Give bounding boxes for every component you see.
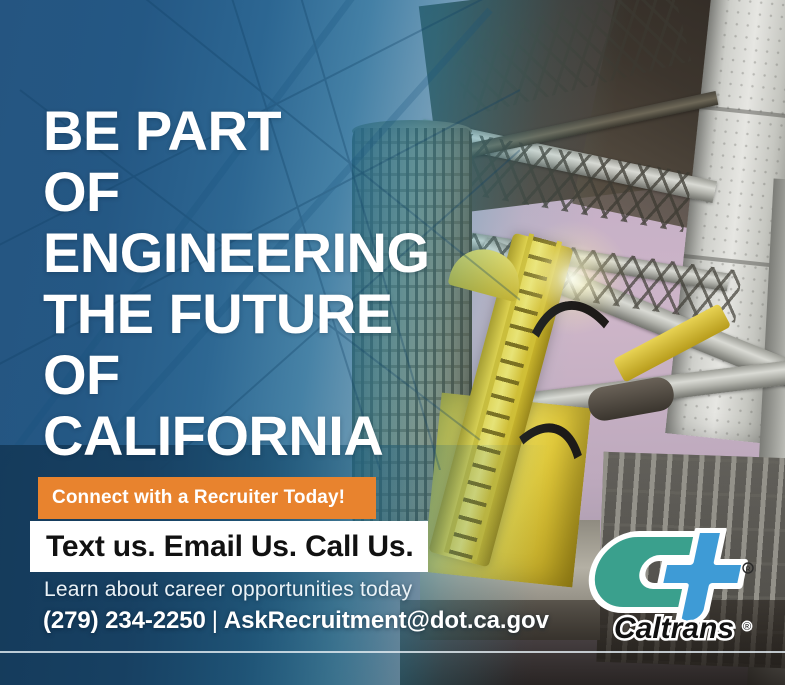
headline-line-6: CALIFORNIA bbox=[43, 405, 473, 466]
wordmark-registered-mark: ® bbox=[743, 621, 751, 633]
phone-number[interactable]: (279) 234-2250 bbox=[43, 607, 206, 634]
learn-more-text: Learn about career opportunities today bbox=[44, 578, 412, 602]
recruiter-cta-banner[interactable]: Connect with a Recruiter Today! bbox=[38, 477, 376, 519]
contact-methods-bar: Text us. Email Us. Call Us. bbox=[30, 521, 428, 572]
footer-divider bbox=[0, 651, 785, 653]
contact-separator: | bbox=[206, 607, 224, 634]
page-title: BE PART OF ENGINEERING THE FUTURE OF CAL… bbox=[43, 100, 473, 466]
caltrans-recruitment-ad: BE PART OF ENGINEERING THE FUTURE OF CAL… bbox=[0, 0, 785, 685]
caltrans-logo-svg: R Caltrans ® bbox=[588, 528, 760, 646]
contact-methods-label: Text us. Email Us. Call Us. bbox=[30, 530, 414, 564]
caltrans-wordmark-text: Caltrans bbox=[614, 612, 734, 645]
svg-text:R: R bbox=[745, 567, 750, 574]
contact-details: (279) 234-2250|AskRecruitment@dot.ca.gov bbox=[43, 607, 549, 635]
headline-line-4: THE FUTURE bbox=[43, 283, 473, 344]
headline-line-2: OF bbox=[43, 161, 473, 222]
headline-line-3: ENGINEERING bbox=[43, 222, 473, 283]
headline-line-1: BE PART bbox=[43, 100, 473, 161]
caltrans-logo: R Caltrans ® bbox=[588, 528, 760, 646]
recruiter-cta-label: Connect with a Recruiter Today! bbox=[38, 487, 345, 509]
email-address[interactable]: AskRecruitment@dot.ca.gov bbox=[224, 607, 549, 634]
headline-line-5: OF bbox=[43, 344, 473, 405]
caltrans-wordmark: Caltrans ® bbox=[614, 612, 751, 645]
ct-monogram-icon bbox=[588, 530, 752, 624]
